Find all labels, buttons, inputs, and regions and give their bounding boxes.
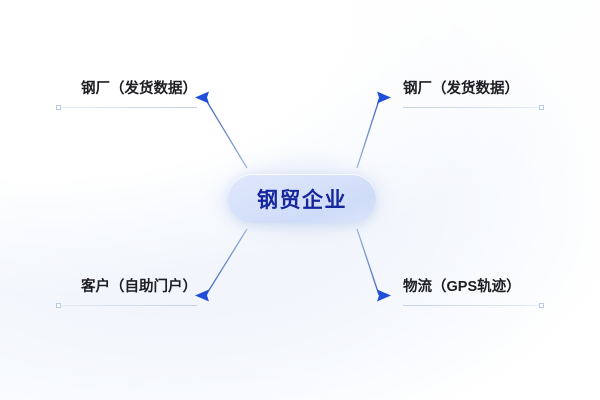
arrow-left-icon	[195, 290, 209, 302]
node-top-right-rule	[403, 107, 543, 108]
node-top-right-label: 钢厂（发货数据）	[403, 82, 600, 97]
node-bottom-right-rule	[403, 305, 543, 306]
node-bottom-right-label: 物流（GPS轨迹）	[403, 280, 600, 295]
node-bottom-left-rule	[57, 305, 197, 306]
center-node-label: 钢贸企业	[257, 184, 347, 214]
center-node[interactable]: 钢贸企业	[228, 174, 376, 223]
node-top-left[interactable]: 钢厂（发货数据）	[0, 82, 197, 108]
node-top-left-label: 钢厂（发货数据）	[0, 82, 197, 97]
diagram-canvas: 钢贸企业 钢厂（发货数据） 钢厂（发货数据） 客户（自助门户） 物流（GPS轨迹…	[0, 0, 600, 400]
node-bottom-left-label: 客户（自助门户）	[0, 280, 197, 295]
node-bottom-right[interactable]: 物流（GPS轨迹）	[403, 280, 600, 306]
arrow-right-icon	[377, 290, 391, 302]
node-top-left-rule	[57, 107, 197, 108]
arrow-right-icon	[377, 92, 391, 104]
arrow-left-icon	[195, 92, 209, 104]
node-bottom-left[interactable]: 客户（自助门户）	[0, 280, 197, 306]
node-top-right[interactable]: 钢厂（发货数据）	[403, 82, 600, 108]
